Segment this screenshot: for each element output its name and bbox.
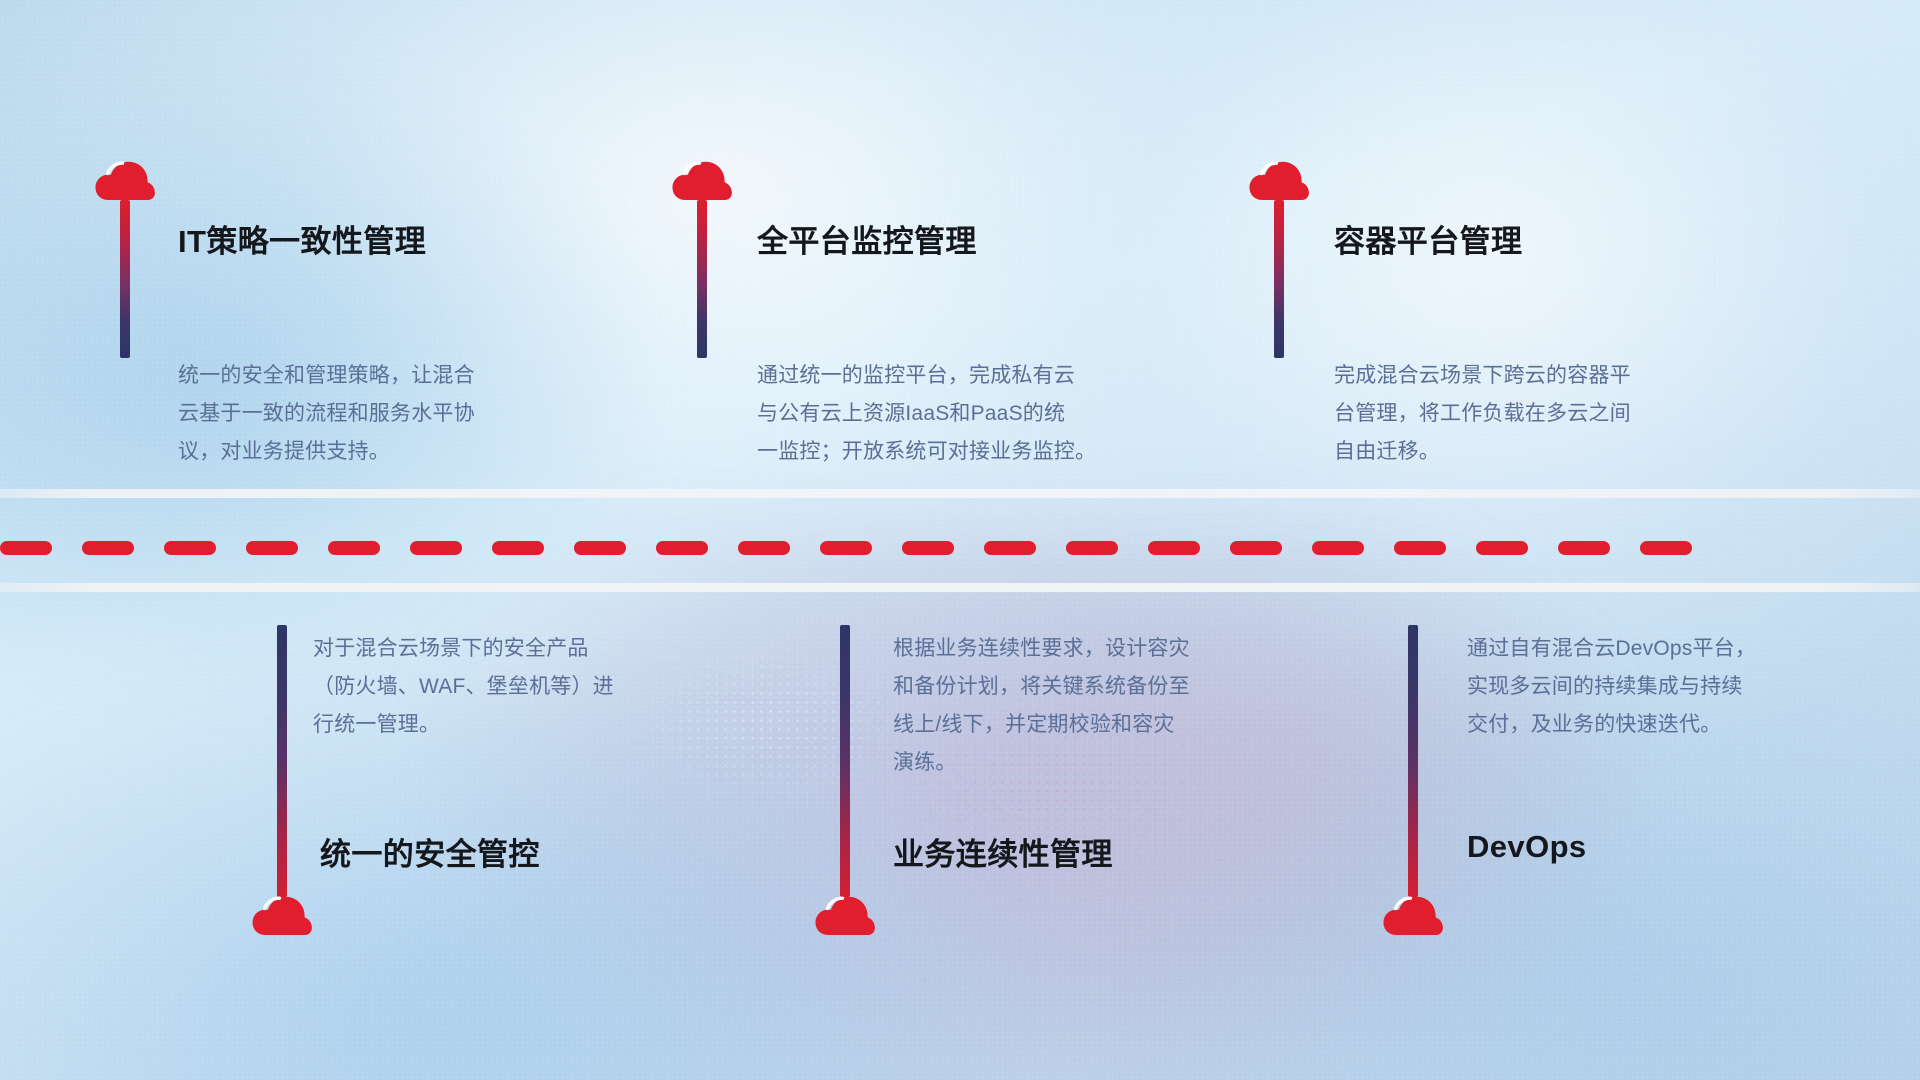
body-line: 通过统一的监控平台，完成私有云 (757, 357, 1157, 395)
body-line: 行统一管理。 (313, 706, 713, 744)
cloud-icon (1383, 893, 1443, 937)
body-line: 完成混合云场景下跨云的容器平 (1334, 357, 1734, 395)
body-line: 通过自有混合云DevOps平台， (1467, 630, 1867, 668)
road-dashed-centerline (0, 541, 1920, 555)
cloud-icon (672, 158, 732, 202)
body-line: 线上/线下，并定期校验和容灾 (893, 706, 1293, 744)
pin-stem (277, 625, 287, 897)
road-dash-segment (0, 541, 52, 555)
pin-stem (120, 200, 130, 358)
road-dash-segment (492, 541, 544, 555)
body-line: 台管理，将工作负载在多云之间 (1334, 395, 1734, 433)
card-title: 业务连续性管理 (893, 829, 1113, 874)
road-dash-segment (410, 541, 462, 555)
road-dash-segment (902, 541, 954, 555)
body-line: 演练。 (893, 744, 1293, 782)
card-body: 统一的安全和管理策略，让混合 云基于一致的流程和服务水平协 议，对业务提供支持。 (178, 357, 578, 471)
cloud-icon (95, 158, 155, 202)
card-body: 对于混合云场景下的安全产品 （防火墙、WAF、堡垒机等）进 行统一管理。 (313, 630, 713, 744)
body-line: 云基于一致的流程和服务水平协 (178, 395, 578, 433)
cloud-icon (1249, 158, 1309, 202)
card-title: 全平台监控管理 (757, 216, 977, 261)
road-edge-top (0, 489, 1920, 498)
body-line: 对于混合云场景下的安全产品 (313, 630, 713, 668)
infographic-canvas: IT策略一致性管理 统一的安全和管理策略，让混合 云基于一致的流程和服务水平协 … (0, 0, 1920, 1080)
road-dash-segment (1230, 541, 1282, 555)
body-line: （防火墙、WAF、堡垒机等）进 (313, 668, 713, 706)
road-dash-segment (328, 541, 380, 555)
pin-stem (1274, 200, 1284, 358)
body-line: 自由迁移。 (1334, 433, 1734, 471)
road-dash-segment (820, 541, 872, 555)
card-body: 通过自有混合云DevOps平台， 实现多云间的持续集成与持续 交付，及业务的快速… (1467, 630, 1867, 744)
body-line: 统一的安全和管理策略，让混合 (178, 357, 578, 395)
road-dash-segment (164, 541, 216, 555)
card-body: 通过统一的监控平台，完成私有云 与公有云上资源IaaS和PaaS的统 一监控；开… (757, 357, 1157, 471)
pin-stem (1408, 625, 1418, 897)
road-dash-segment (574, 541, 626, 555)
body-line: 一监控；开放系统可对接业务监控。 (757, 433, 1157, 471)
road-dash-segment (1640, 541, 1692, 555)
cloud-icon (252, 893, 312, 937)
card-body: 根据业务连续性要求，设计容灾 和备份计划，将关键系统备份至 线上/线下，并定期校… (893, 630, 1293, 782)
card-body: 完成混合云场景下跨云的容器平 台管理，将工作负载在多云之间 自由迁移。 (1334, 357, 1734, 471)
body-line: 和备份计划，将关键系统备份至 (893, 668, 1293, 706)
road-dash-segment (1394, 541, 1446, 555)
body-line: 实现多云间的持续集成与持续 (1467, 668, 1867, 706)
road-dash-segment (984, 541, 1036, 555)
road-dash-segment (1066, 541, 1118, 555)
road-dash-segment (82, 541, 134, 555)
card-title: IT策略一致性管理 (178, 216, 426, 261)
pin-stem (840, 625, 850, 897)
road-dash-segment (1148, 541, 1200, 555)
road-dash-segment (1476, 541, 1528, 555)
road-dash-segment (1312, 541, 1364, 555)
road-dash-segment (1558, 541, 1610, 555)
body-line: 议，对业务提供支持。 (178, 433, 578, 471)
card-title: DevOps (1467, 829, 1587, 865)
body-line: 与公有云上资源IaaS和PaaS的统 (757, 395, 1157, 433)
road-edge-bottom (0, 583, 1920, 592)
card-title: 统一的安全管控 (320, 829, 540, 874)
body-line: 交付，及业务的快速迭代。 (1467, 706, 1867, 744)
pin-stem (697, 200, 707, 358)
cloud-icon (815, 893, 875, 937)
road-dash-segment (246, 541, 298, 555)
road-dash-segment (738, 541, 790, 555)
card-title: 容器平台管理 (1334, 216, 1522, 261)
body-line: 根据业务连续性要求，设计容灾 (893, 630, 1293, 668)
road-dash-segment (656, 541, 708, 555)
